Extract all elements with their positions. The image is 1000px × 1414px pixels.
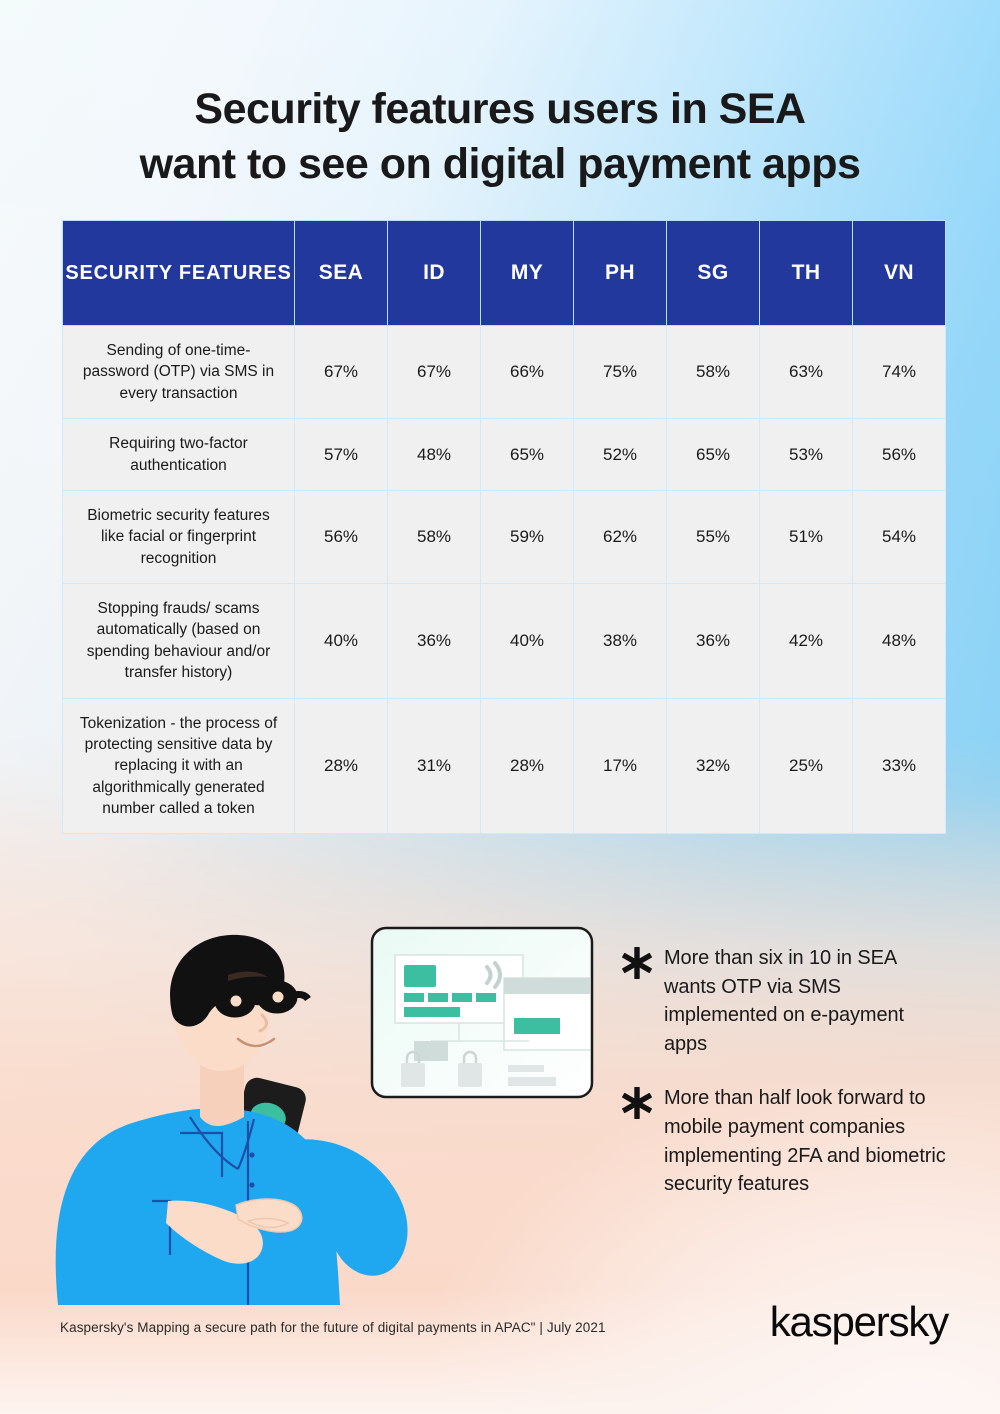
table-row: Sending of one-time-password (OTP) via S… bbox=[63, 326, 946, 419]
cell-sg: 65% bbox=[667, 419, 760, 491]
cell-my: 65% bbox=[481, 419, 574, 491]
cell-my: 66% bbox=[481, 326, 574, 419]
table-row: Requiring two-factor authentication 57% … bbox=[63, 419, 946, 491]
cell-vn: 56% bbox=[853, 419, 946, 491]
cell-id: 31% bbox=[388, 698, 481, 834]
cell-vn: 33% bbox=[853, 698, 946, 834]
table-row: Stopping frauds/ scams automatically (ba… bbox=[63, 584, 946, 699]
asterisk-icon bbox=[620, 1086, 654, 1120]
asterisk-icon bbox=[620, 946, 654, 980]
illustration-man-with-tablet bbox=[40, 905, 620, 1305]
cell-sg: 58% bbox=[667, 326, 760, 419]
cell-sg: 55% bbox=[667, 490, 760, 583]
page-title: Security features users in SEA want to s… bbox=[0, 82, 1000, 191]
security-features-table: SECURITY FEATURES SEA ID MY PH SG TH VN … bbox=[62, 220, 946, 834]
feature-label: Tokenization - the process of protecting… bbox=[63, 698, 295, 834]
cell-id: 48% bbox=[388, 419, 481, 491]
table-header: SECURITY FEATURES SEA ID MY PH SG TH VN bbox=[63, 221, 946, 326]
cell-sg: 36% bbox=[667, 584, 760, 699]
table-row: Biometric security features like facial … bbox=[63, 490, 946, 583]
table-header-row: SECURITY FEATURES SEA ID MY PH SG TH VN bbox=[63, 221, 946, 326]
page-title-line-2: want to see on digital payment apps bbox=[140, 140, 861, 188]
cell-ph: 17% bbox=[574, 698, 667, 834]
column-header-id: ID bbox=[388, 221, 481, 326]
column-header-vn: VN bbox=[853, 221, 946, 326]
page-title-line-1: Security features users in SEA bbox=[194, 85, 805, 133]
feature-label: Requiring two-factor authentication bbox=[63, 419, 295, 491]
person-illustration bbox=[56, 935, 408, 1305]
cell-sg: 32% bbox=[667, 698, 760, 834]
list-item: More than six in 10 in SEA wants OTP via… bbox=[620, 944, 950, 1058]
cell-my: 40% bbox=[481, 584, 574, 699]
cell-sea: 40% bbox=[295, 584, 388, 699]
cell-ph: 38% bbox=[574, 584, 667, 699]
cell-sea: 28% bbox=[295, 698, 388, 834]
cell-vn: 48% bbox=[853, 584, 946, 699]
list-item: More than half look forward to mobile pa… bbox=[620, 1084, 950, 1198]
feature-label: Stopping frauds/ scams automatically (ba… bbox=[63, 584, 295, 699]
cell-th: 25% bbox=[760, 698, 853, 834]
column-header-sea: SEA bbox=[295, 221, 388, 326]
cell-ph: 75% bbox=[574, 326, 667, 419]
cell-sea: 57% bbox=[295, 419, 388, 491]
cell-sea: 67% bbox=[295, 326, 388, 419]
cell-sea: 56% bbox=[295, 490, 388, 583]
table-body: Sending of one-time-password (OTP) via S… bbox=[63, 326, 946, 834]
cell-ph: 62% bbox=[574, 490, 667, 583]
cell-vn: 74% bbox=[853, 326, 946, 419]
cell-th: 63% bbox=[760, 326, 853, 419]
source-note: Kaspersky's Mapping a secure path for th… bbox=[60, 1320, 606, 1335]
cell-id: 58% bbox=[388, 490, 481, 583]
column-header-sg: SG bbox=[667, 221, 760, 326]
cell-my: 28% bbox=[481, 698, 574, 834]
cell-ph: 52% bbox=[574, 419, 667, 491]
list-item-label: More than half look forward to mobile pa… bbox=[664, 1084, 950, 1198]
column-header-my: MY bbox=[481, 221, 574, 326]
cell-th: 53% bbox=[760, 419, 853, 491]
cell-th: 51% bbox=[760, 490, 853, 583]
column-header-th: TH bbox=[760, 221, 853, 326]
feature-label: Sending of one-time-password (OTP) via S… bbox=[63, 326, 295, 419]
cell-id: 36% bbox=[388, 584, 481, 699]
cell-th: 42% bbox=[760, 584, 853, 699]
cell-vn: 54% bbox=[853, 490, 946, 583]
table-row: Tokenization - the process of protecting… bbox=[63, 698, 946, 834]
key-findings-list: More than six in 10 in SEA wants OTP via… bbox=[620, 944, 950, 1225]
list-item-label: More than six in 10 in SEA wants OTP via… bbox=[664, 944, 950, 1058]
cell-my: 59% bbox=[481, 490, 574, 583]
kaspersky-logo: kaspersky bbox=[770, 1298, 948, 1346]
column-header-security-features: SECURITY FEATURES bbox=[63, 221, 295, 326]
cell-id: 67% bbox=[388, 326, 481, 419]
security-features-table-container: SECURITY FEATURES SEA ID MY PH SG TH VN … bbox=[62, 220, 946, 834]
column-header-ph: PH bbox=[574, 221, 667, 326]
feature-label: Biometric security features like facial … bbox=[63, 490, 295, 583]
